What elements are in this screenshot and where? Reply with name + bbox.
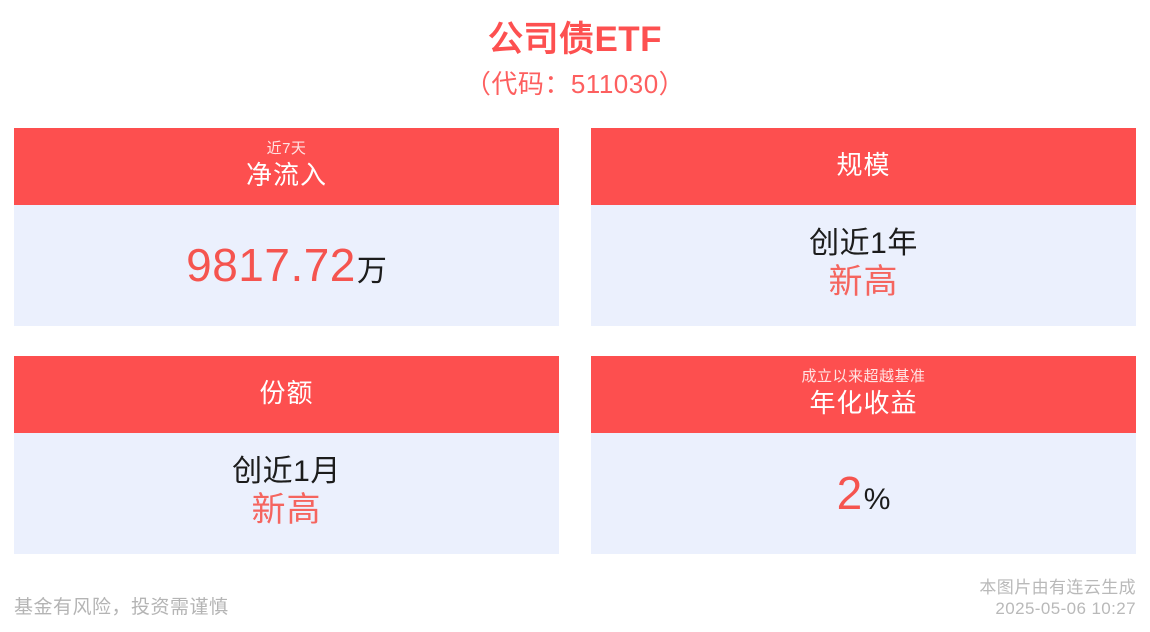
metric-card-net-inflow: 近7天 净流入 9817.72 万 (14, 128, 559, 326)
page-header: 公司债ETF （代码：511030） (0, 0, 1150, 102)
card-body-scale: 创近1年 新高 (591, 205, 1136, 326)
value-unit-annualized-excess-return: % (864, 485, 891, 515)
stack-top-scale: 创近1年 (809, 226, 918, 262)
generation-credit: 本图片由有连云生成 2025-05-06 10:27 (979, 577, 1136, 621)
fund-summary-card-page: 公司债ETF （代码：511030） 近7天 净流入 9817.72 万 规模 (0, 0, 1150, 632)
value-line-annualized-excess-return: 2 % (837, 470, 891, 516)
card-header-shares: 份额 (14, 356, 559, 433)
stack-bottom-shares: 新高 (232, 490, 341, 531)
value-number-net-inflow: 9817.72 (186, 242, 356, 288)
stack-line-scale: 创近1年 新高 (809, 226, 918, 303)
page-footer: 基金有风险，投资需谨慎 本图片由有连云生成 2025-05-06 10:27 (0, 566, 1150, 632)
card-body-annualized-excess-return: 2 % (591, 433, 1136, 554)
value-unit-net-inflow: 万 (357, 257, 387, 287)
value-line-net-inflow: 9817.72 万 (186, 242, 387, 288)
metric-card-grid: 近7天 净流入 9817.72 万 规模 创近1年 新高 (14, 128, 1136, 554)
value-number-annualized-excess-return: 2 (837, 470, 863, 516)
fund-code: （代码：511030） (0, 68, 1150, 102)
card-header-sup-annualized-excess-return: 成立以来超越基准 (801, 367, 925, 387)
card-header-main-scale: 规模 (836, 149, 890, 183)
generation-source: 本图片由有连云生成 (979, 577, 1136, 599)
page-title: 公司债ETF (0, 18, 1150, 62)
card-header-annualized-excess-return: 成立以来超越基准 年化收益 (591, 356, 1136, 433)
card-header-net-inflow: 近7天 净流入 (14, 128, 559, 205)
stack-line-shares: 创近1月 新高 (232, 454, 341, 531)
card-body-net-inflow: 9817.72 万 (14, 205, 559, 326)
metric-card-shares: 份额 创近1月 新高 (14, 356, 559, 554)
card-header-main-annualized-excess-return: 年化收益 (809, 387, 917, 421)
card-header-scale: 规模 (591, 128, 1136, 205)
generation-timestamp: 2025-05-06 10:27 (979, 598, 1136, 620)
metric-card-annualized-excess-return: 成立以来超越基准 年化收益 2 % (591, 356, 1136, 554)
stack-top-shares: 创近1月 (232, 454, 341, 490)
card-header-main-shares: 份额 (259, 377, 313, 411)
metric-card-scale: 规模 创近1年 新高 (591, 128, 1136, 326)
stack-bottom-scale: 新高 (809, 262, 918, 303)
card-body-shares: 创近1月 新高 (14, 433, 559, 554)
risk-disclaimer: 基金有风险，投资需谨慎 (14, 597, 229, 620)
card-header-main-net-inflow: 净流入 (246, 159, 327, 193)
card-header-sup-net-inflow: 近7天 (267, 139, 307, 159)
